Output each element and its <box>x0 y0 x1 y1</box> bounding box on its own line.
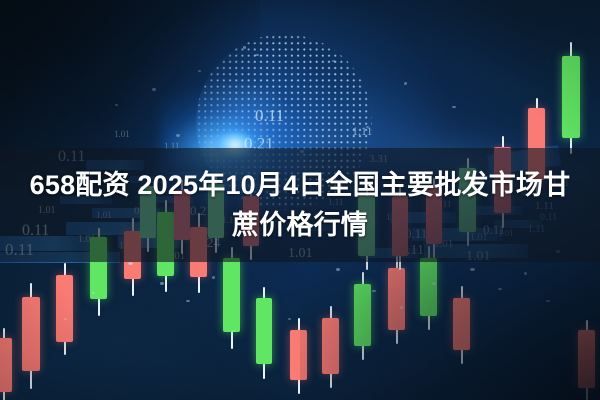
headline: 658配资 2025年10月4日全国主要批发市场甘 蔗价格行情 <box>0 148 600 262</box>
stock-market-banner-image: 0.110.211.113.310.111.011.111.010.110.11… <box>0 0 600 400</box>
headline-line-2: 蔗价格行情 <box>232 205 368 245</box>
headline-line-1: 658配资 2025年10月4日全国主要批发市场甘 <box>30 165 571 205</box>
